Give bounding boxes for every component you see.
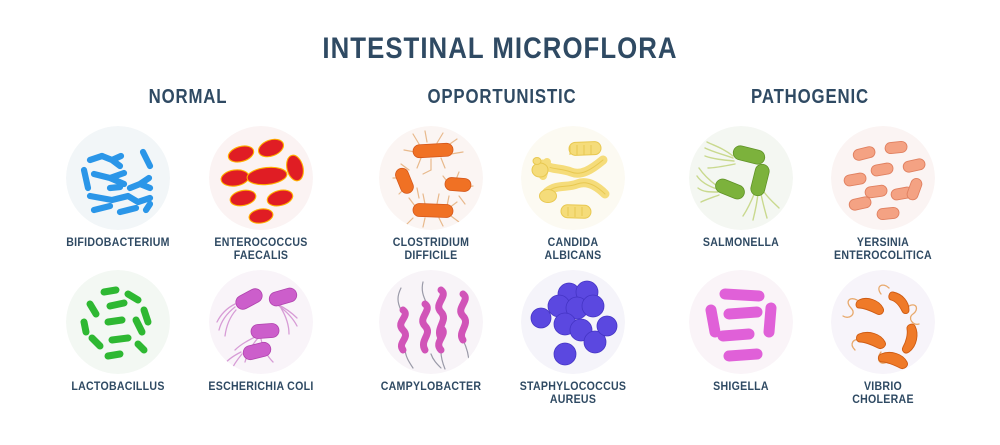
microbe-label-shigella: SHIGELLA [667, 381, 814, 394]
microbe-card-vibrio-cholerae[interactable]: VIBRIO CHOLERAE [803, 270, 963, 407]
microbe-label-salmonella: SALMONELLA [667, 237, 814, 250]
microbe-illustration-lactobacillus [66, 270, 170, 374]
microbe-card-staphylococcus-aureus[interactable]: STAPHYLOCOCCUS AUREUS [493, 270, 653, 407]
microbe-label-lactobacillus: LACTOBACILLUS [44, 381, 191, 394]
microbe-illustration-staphylococcus-aureus [521, 270, 625, 374]
microbe-card-salmonella[interactable]: SALMONELLA [661, 126, 821, 250]
microbe-illustration-enterococcus-faecalis [209, 126, 313, 230]
category-label-normal: NORMAL [62, 86, 314, 109]
microbe-card-lactobacillus[interactable]: LACTOBACILLUS [38, 270, 198, 394]
microbe-illustration-campylobacter [379, 270, 483, 374]
microbe-illustration-salmonella [689, 126, 793, 230]
microbe-illustration-vibrio-cholerae [831, 270, 935, 374]
microbe-card-campylobacter[interactable]: CAMPYLOBACTER [351, 270, 511, 394]
category-label-pathogenic: PATHOGENIC [684, 86, 936, 109]
microbe-illustration-shigella [689, 270, 793, 374]
microbe-card-clostridium-difficile[interactable]: CLOSTRIDIUM DIFFICILE [351, 126, 511, 263]
microbe-label-vibrio-cholerae: VIBRIO CHOLERAE [809, 381, 956, 407]
microbe-illustration-bifidobacterium [66, 126, 170, 230]
category-label-opportunistic: OPPORTUNISTIC [376, 86, 628, 109]
microbe-card-escherichia-coli[interactable]: ESCHERICHIA COLI [181, 270, 341, 394]
category-header-row: NORMAL OPPORTUNISTIC PATHOGENIC [0, 86, 1000, 112]
microbe-label-enterococcus-faecalis: ENTEROCOCCUS FAECALIS [187, 237, 334, 263]
microbe-label-yersinia-enterocolitica: YERSINIA ENTEROCOLITICA [809, 237, 956, 263]
microbe-illustration-candida-albicans [521, 126, 625, 230]
microbe-label-escherichia-coli: ESCHERICHIA COLI [187, 381, 334, 394]
microbe-illustration-clostridium-difficile [379, 126, 483, 230]
microbe-label-clostridium-difficile: CLOSTRIDIUM DIFFICILE [357, 237, 504, 263]
microbe-card-shigella[interactable]: SHIGELLA [661, 270, 821, 394]
infographic-root: INTESTINAL MICROFLORA NORMAL OPPORTUNIST… [0, 0, 1000, 445]
page-title: INTESTINAL MICROFLORA [70, 32, 930, 66]
microbe-card-enterococcus-faecalis[interactable]: ENTEROCOCCUS FAECALIS [181, 126, 341, 263]
microbe-label-staphylococcus-aureus: STAPHYLOCOCCUS AUREUS [499, 381, 646, 407]
microbe-label-candida-albicans: CANDIDA ALBICANS [499, 237, 646, 263]
microbe-card-yersinia-enterocolitica[interactable]: YERSINIA ENTEROCOLITICA [803, 126, 963, 263]
microbe-illustration-escherichia-coli [209, 270, 313, 374]
microbe-label-bifidobacterium: BIFIDOBACTERIUM [44, 237, 191, 250]
microbe-illustration-yersinia-enterocolitica [831, 126, 935, 230]
microbe-label-campylobacter: CAMPYLOBACTER [357, 381, 504, 394]
microbe-card-bifidobacterium[interactable]: BIFIDOBACTERIUM [38, 126, 198, 250]
microbe-card-candida-albicans[interactable]: CANDIDA ALBICANS [493, 126, 653, 263]
